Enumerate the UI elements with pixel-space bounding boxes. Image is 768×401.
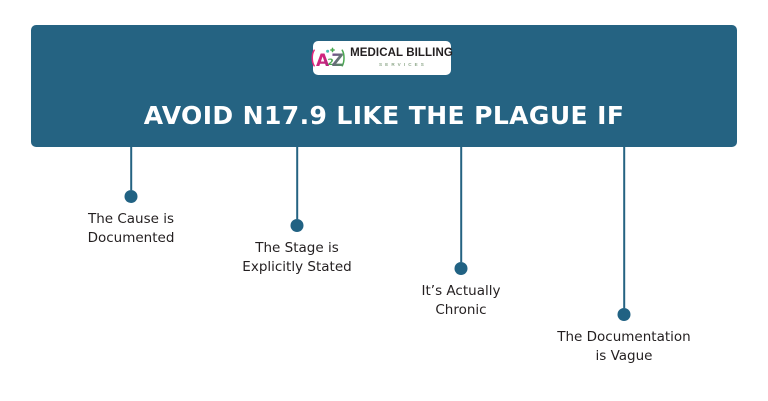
callout-4-label-line2: is Vague (596, 348, 653, 364)
callout-2-dot (291, 219, 304, 232)
callout-1-dot (125, 190, 138, 203)
brand-logo-wordmark: MEDICAL BILLING SERVICES (350, 48, 453, 67)
callout-4-label-line1: The Documentation (557, 329, 690, 345)
callout-4-label: The Documentation is Vague (504, 328, 744, 366)
callout-1-stem (130, 147, 132, 190)
callout-3-stem (460, 147, 462, 262)
header-banner: A 2 Z MEDICAL BILLING SERVICES (31, 25, 737, 147)
callout-2-stem (296, 147, 298, 219)
callout-2-label-line1: The Stage is (255, 240, 339, 256)
a2z-logo-icon: A 2 Z (311, 46, 345, 70)
callout-3-label-line2: Chronic (435, 302, 486, 318)
banner-headline: AVOID N17.9 LIKE THE PLAGUE IF (31, 101, 737, 130)
infographic-canvas: A 2 Z MEDICAL BILLING SERVICES (0, 0, 768, 401)
callout-1-label-line1: The Cause is (88, 211, 174, 227)
callout-1-label-line2: Documented (88, 230, 175, 246)
callout-4-dot (618, 308, 631, 321)
svg-text:Z: Z (332, 51, 344, 70)
brand-logo-card: A 2 Z MEDICAL BILLING SERVICES (313, 41, 451, 75)
callout-4-stem (623, 147, 625, 308)
brand-tagline: SERVICES (379, 63, 427, 68)
brand-name: MEDICAL BILLING (350, 48, 453, 60)
callout-2-label: The Stage is Explicitly Stated (187, 239, 407, 277)
callout-3-label: It’s Actually Chronic (361, 282, 561, 320)
callout-3-dot (455, 262, 468, 275)
callout-3-label-line1: It’s Actually (422, 283, 501, 299)
callout-2-label-line2: Explicitly Stated (242, 259, 351, 275)
